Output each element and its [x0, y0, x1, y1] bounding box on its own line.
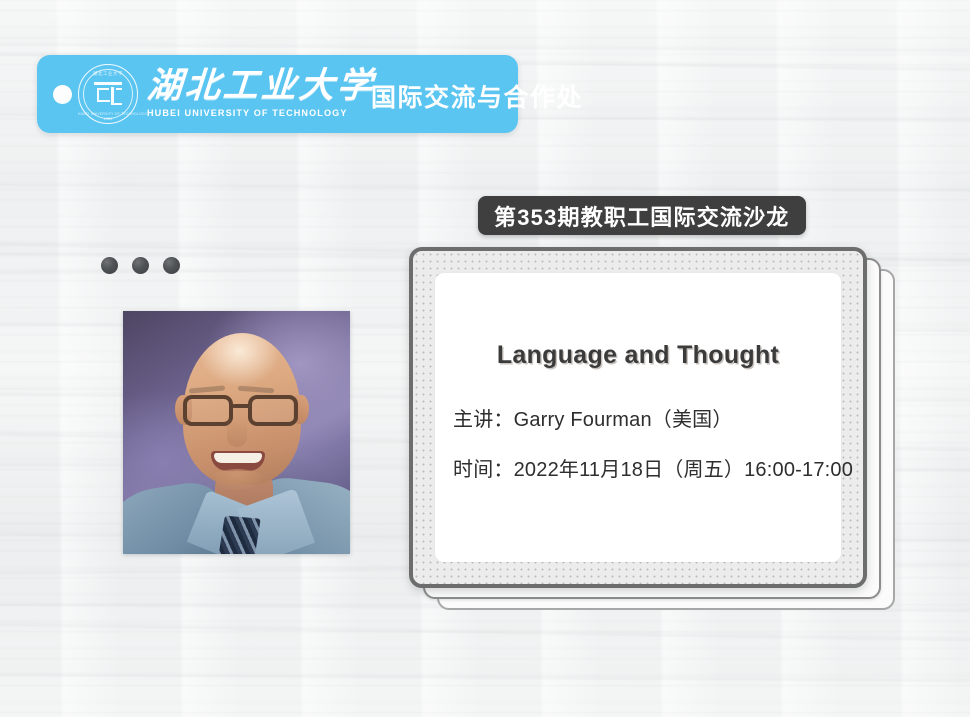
dot-2-icon — [132, 257, 149, 274]
poster-stage: 湖北工业大学 HUBEI UNIVERSITY OF TECHNOLOGY 19… — [0, 0, 970, 717]
university-name-cn: 湖北工业大学 — [146, 67, 364, 105]
speaker-portrait — [123, 311, 350, 554]
slide-title: Language and Thought — [443, 341, 833, 370]
slide-time-line: 时间：2022年11月18日（周五）16:00-17:00 — [453, 453, 833, 482]
portrait-necktie — [217, 516, 260, 554]
crest-monogram-icon — [93, 82, 123, 106]
slide-card-frame: Language and Thought 主讲：Garry Fourman（美国… — [409, 247, 867, 588]
crest-top-text: 湖北工业大学 — [78, 71, 138, 77]
event-title-bar: 第353期教职工国际交流沙龙 — [478, 196, 806, 235]
university-name-block: 湖北工业大学 HUBEI UNIVERSITY OF TECHNOLOGY — [147, 67, 362, 118]
portrait-lens-right — [248, 395, 298, 426]
slide-speaker-line: 主讲：Garry Fourman（美国） — [453, 403, 833, 432]
slide-card-deck: Language and Thought 主讲：Garry Fourman（美国… — [409, 247, 867, 588]
portrait-teeth — [214, 453, 262, 463]
dot-1-icon — [101, 257, 118, 274]
dot-3-icon — [163, 257, 180, 274]
portrait-lens-left — [183, 395, 233, 426]
crest-year-text: 1952 — [78, 116, 138, 121]
banner-punch-hole-icon — [53, 85, 72, 104]
portrait-nose — [227, 419, 247, 447]
portrait-mouth — [211, 451, 265, 471]
university-name-en: HUBEI UNIVERSITY OF TECHNOLOGY — [147, 107, 356, 118]
department-name: 国际交流与合作处 — [371, 78, 583, 114]
slide-card-content: Language and Thought 主讲：Garry Fourman（美国… — [435, 273, 841, 562]
decorative-dots — [101, 257, 180, 274]
portrait-chin — [209, 469, 265, 491]
event-title-text: 第353期教职工国际交流沙龙 — [494, 200, 790, 232]
university-banner: 湖北工业大学 HUBEI UNIVERSITY OF TECHNOLOGY 19… — [37, 55, 518, 133]
university-crest-icon: 湖北工业大学 HUBEI UNIVERSITY OF TECHNOLOGY 19… — [78, 64, 138, 124]
